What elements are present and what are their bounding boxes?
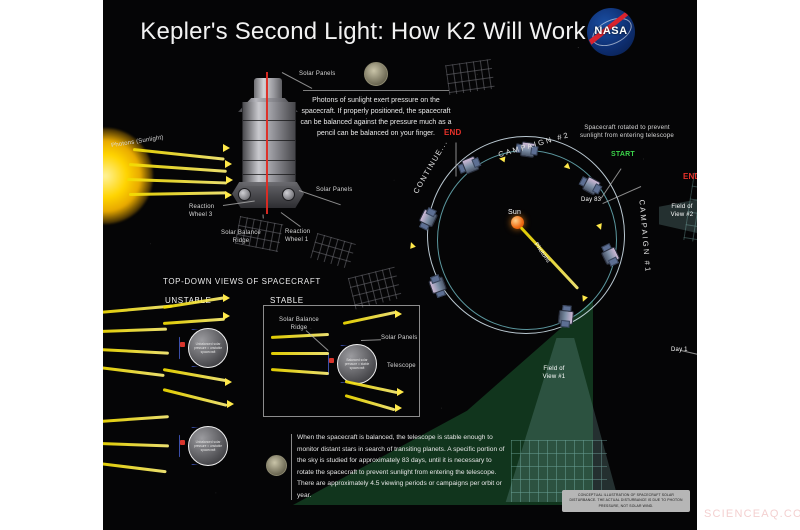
- solar-array-decor: [445, 59, 495, 95]
- photon-stream: [163, 318, 225, 325]
- photon-stream: [103, 328, 167, 333]
- end-right-label: END: [683, 172, 697, 183]
- reaction-wheel-3-label: Reaction Wheel 3: [189, 203, 221, 219]
- leader-line: [281, 212, 301, 227]
- topdown-heading: TOP-DOWN VIEWS OF SPACECRAFT: [163, 277, 321, 286]
- summary-block: When the spacecraft is balanced, the tel…: [297, 432, 509, 501]
- field-of-view-2-label: Field of View #2: [669, 203, 695, 219]
- disclaimer-box: CONCEPTUAL ILLUSTRATION OF SPACECRAFT SO…: [562, 490, 690, 512]
- nasa-wordmark: NASA: [592, 25, 630, 37]
- unstable-disc-label: Unbalanced solar pressure = unstable spa…: [193, 440, 223, 452]
- spacecraft-topdown-unstable: Unbalanced solar pressure = unstable spa…: [182, 326, 226, 370]
- leader-line: [681, 350, 697, 359]
- summary-text: When the spacecraft is balanced, the tel…: [297, 432, 509, 501]
- poster-canvas: Kepler's Second Light: How K2 Will Work …: [103, 0, 697, 530]
- photon-stream: [103, 442, 169, 447]
- start-top-label: START: [611, 150, 635, 159]
- divider: [291, 434, 292, 500]
- solar-balance-ridge-marker: [180, 342, 185, 347]
- stable-telescope-label: Telescope: [387, 362, 416, 370]
- spacecraft-disc: Balanced solar pressure = stable spacecr…: [337, 344, 377, 384]
- photon-stream: [103, 462, 167, 473]
- rotate-note-label: Spacecraft rotated to prevent sunlight f…: [577, 124, 677, 141]
- solar-array-decor: [348, 267, 402, 310]
- orbit-direction-arrow: [408, 241, 416, 249]
- leader-line: [263, 214, 264, 218]
- beam-arrowhead: [223, 312, 230, 320]
- spacecraft-body: [242, 102, 296, 186]
- disclaimer-text: CONCEPTUAL ILLUSTRATION OF SPACECRAFT SO…: [567, 493, 685, 508]
- solar-panels-right-label: Solar Panels: [316, 186, 352, 194]
- watermark: SCIENCEAQ.COM: [704, 508, 800, 520]
- photon-stream: [163, 388, 228, 407]
- beam-arrowhead: [227, 400, 234, 408]
- photon-stream: [103, 415, 169, 423]
- page-title: Kepler's Second Light: How K2 Will Work: [103, 18, 623, 46]
- reaction-wheel-1-icon: [282, 188, 295, 201]
- divider: [303, 90, 449, 91]
- stable-solar-balance-ridge-label: Solar Balance Ridge: [277, 316, 321, 332]
- spacecraft-topdown-unstable: Unbalanced solar pressure = unstable spa…: [182, 424, 226, 468]
- solar-array-decor: [235, 216, 284, 252]
- leader-line: [456, 143, 457, 177]
- photon-stream: [271, 352, 329, 355]
- solar-balance-ridge-marker: [180, 440, 185, 445]
- sunlight-beam: [129, 191, 227, 196]
- spacecraft-topdown-stable: Balanced solar pressure = stable spacecr…: [331, 342, 375, 386]
- photon-stream: [163, 368, 227, 382]
- stable-solar-panels-label: Solar Panels: [381, 334, 417, 342]
- spacecraft-orbit-marker: [559, 306, 574, 327]
- unstable-disc-label: Unbalanced solar pressure = unstable spa…: [193, 342, 223, 354]
- beam-arrowhead: [395, 310, 402, 318]
- beam-arrowhead: [395, 404, 402, 412]
- day-83-label: Day 83: [581, 196, 601, 204]
- infographic-poster: Kepler's Second Light: How K2 Will Work …: [0, 0, 800, 530]
- beam-arrowhead: [225, 378, 232, 386]
- reaction-wheel-3-icon: [238, 188, 251, 201]
- beam-arrowhead: [397, 388, 404, 396]
- nasa-logo-icon: NASA: [587, 8, 635, 56]
- solar-balance-ridge-marker: [329, 358, 334, 363]
- field-of-view-1-label: Field of View #1: [541, 365, 567, 381]
- photon-stream: [103, 348, 169, 355]
- solar-balance-axis-line: [266, 72, 268, 214]
- end-left-label: END: [444, 128, 462, 139]
- mission-seal-icon: [364, 62, 388, 86]
- spacecraft-side-view: [228, 78, 306, 208]
- stable-heading: STABLE: [270, 296, 304, 305]
- reaction-wheel-1-label: Reaction Wheel 1: [285, 228, 315, 244]
- sun-label: Sun: [508, 208, 521, 217]
- mission-seal-icon: [266, 455, 287, 476]
- spacecraft-disc: Unbalanced solar pressure = unstable spa…: [188, 426, 228, 466]
- beam-arrowhead: [223, 294, 230, 302]
- stable-disc-label: Balanced solar pressure = stable spacecr…: [342, 358, 372, 370]
- spacecraft-disc: Unbalanced solar pressure = unstable spa…: [188, 328, 228, 368]
- photon-stream: [103, 366, 165, 377]
- solar-array-decor: [310, 233, 356, 269]
